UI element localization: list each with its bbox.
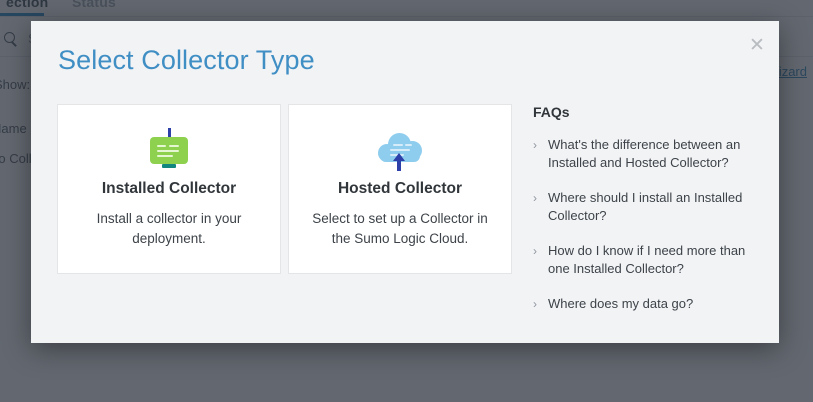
faq-item[interactable]: › What's the difference between an Insta… [533,136,763,172]
faq-item[interactable]: › How do I know if I need more than one … [533,242,763,278]
hosted-collector-card[interactable]: Hosted Collector Select to set up a Coll… [288,104,512,274]
chevron-right-icon: › [533,242,537,260]
select-collector-type-dialog: ✕ Select Collector Type Installed Collec… [31,21,779,343]
close-icon[interactable]: ✕ [746,35,768,57]
installed-collector-card[interactable]: Installed Collector Install a collector … [57,104,281,274]
installed-collector-monitor-icon [146,128,192,172]
faq-item-label: Where should I install an Installed Coll… [548,189,763,225]
chevron-right-icon: › [533,136,537,154]
hosted-collector-icon-wrap [289,127,511,173]
installed-collector-icon-wrap [58,127,280,173]
faq-item-label: Where does my data go? [548,295,763,313]
hosted-collector-description: Select to set up a Collector in the Sumo… [307,209,493,249]
hosted-collector-cloud-icon [376,128,424,172]
hosted-collector-heading: Hosted Collector [289,180,511,198]
chevron-right-icon: › [533,189,537,207]
faq-heading: FAQs [533,104,763,120]
faq-panel: FAQs › What's the difference between an … [533,104,763,330]
faq-item-label: How do I know if I need more than one In… [548,242,763,278]
installed-collector-description: Install a collector in your deployment. [76,209,262,249]
collector-type-card-list: Installed Collector Install a collector … [57,104,515,274]
installed-collector-heading: Installed Collector [58,180,280,198]
dialog-title: Select Collector Type [58,45,315,76]
faq-item[interactable]: › Where does my data go? [533,295,763,313]
faq-item[interactable]: › Where should I install an Installed Co… [533,189,763,225]
chevron-right-icon: › [533,295,537,313]
faq-item-label: What's the difference between an Install… [548,136,763,172]
